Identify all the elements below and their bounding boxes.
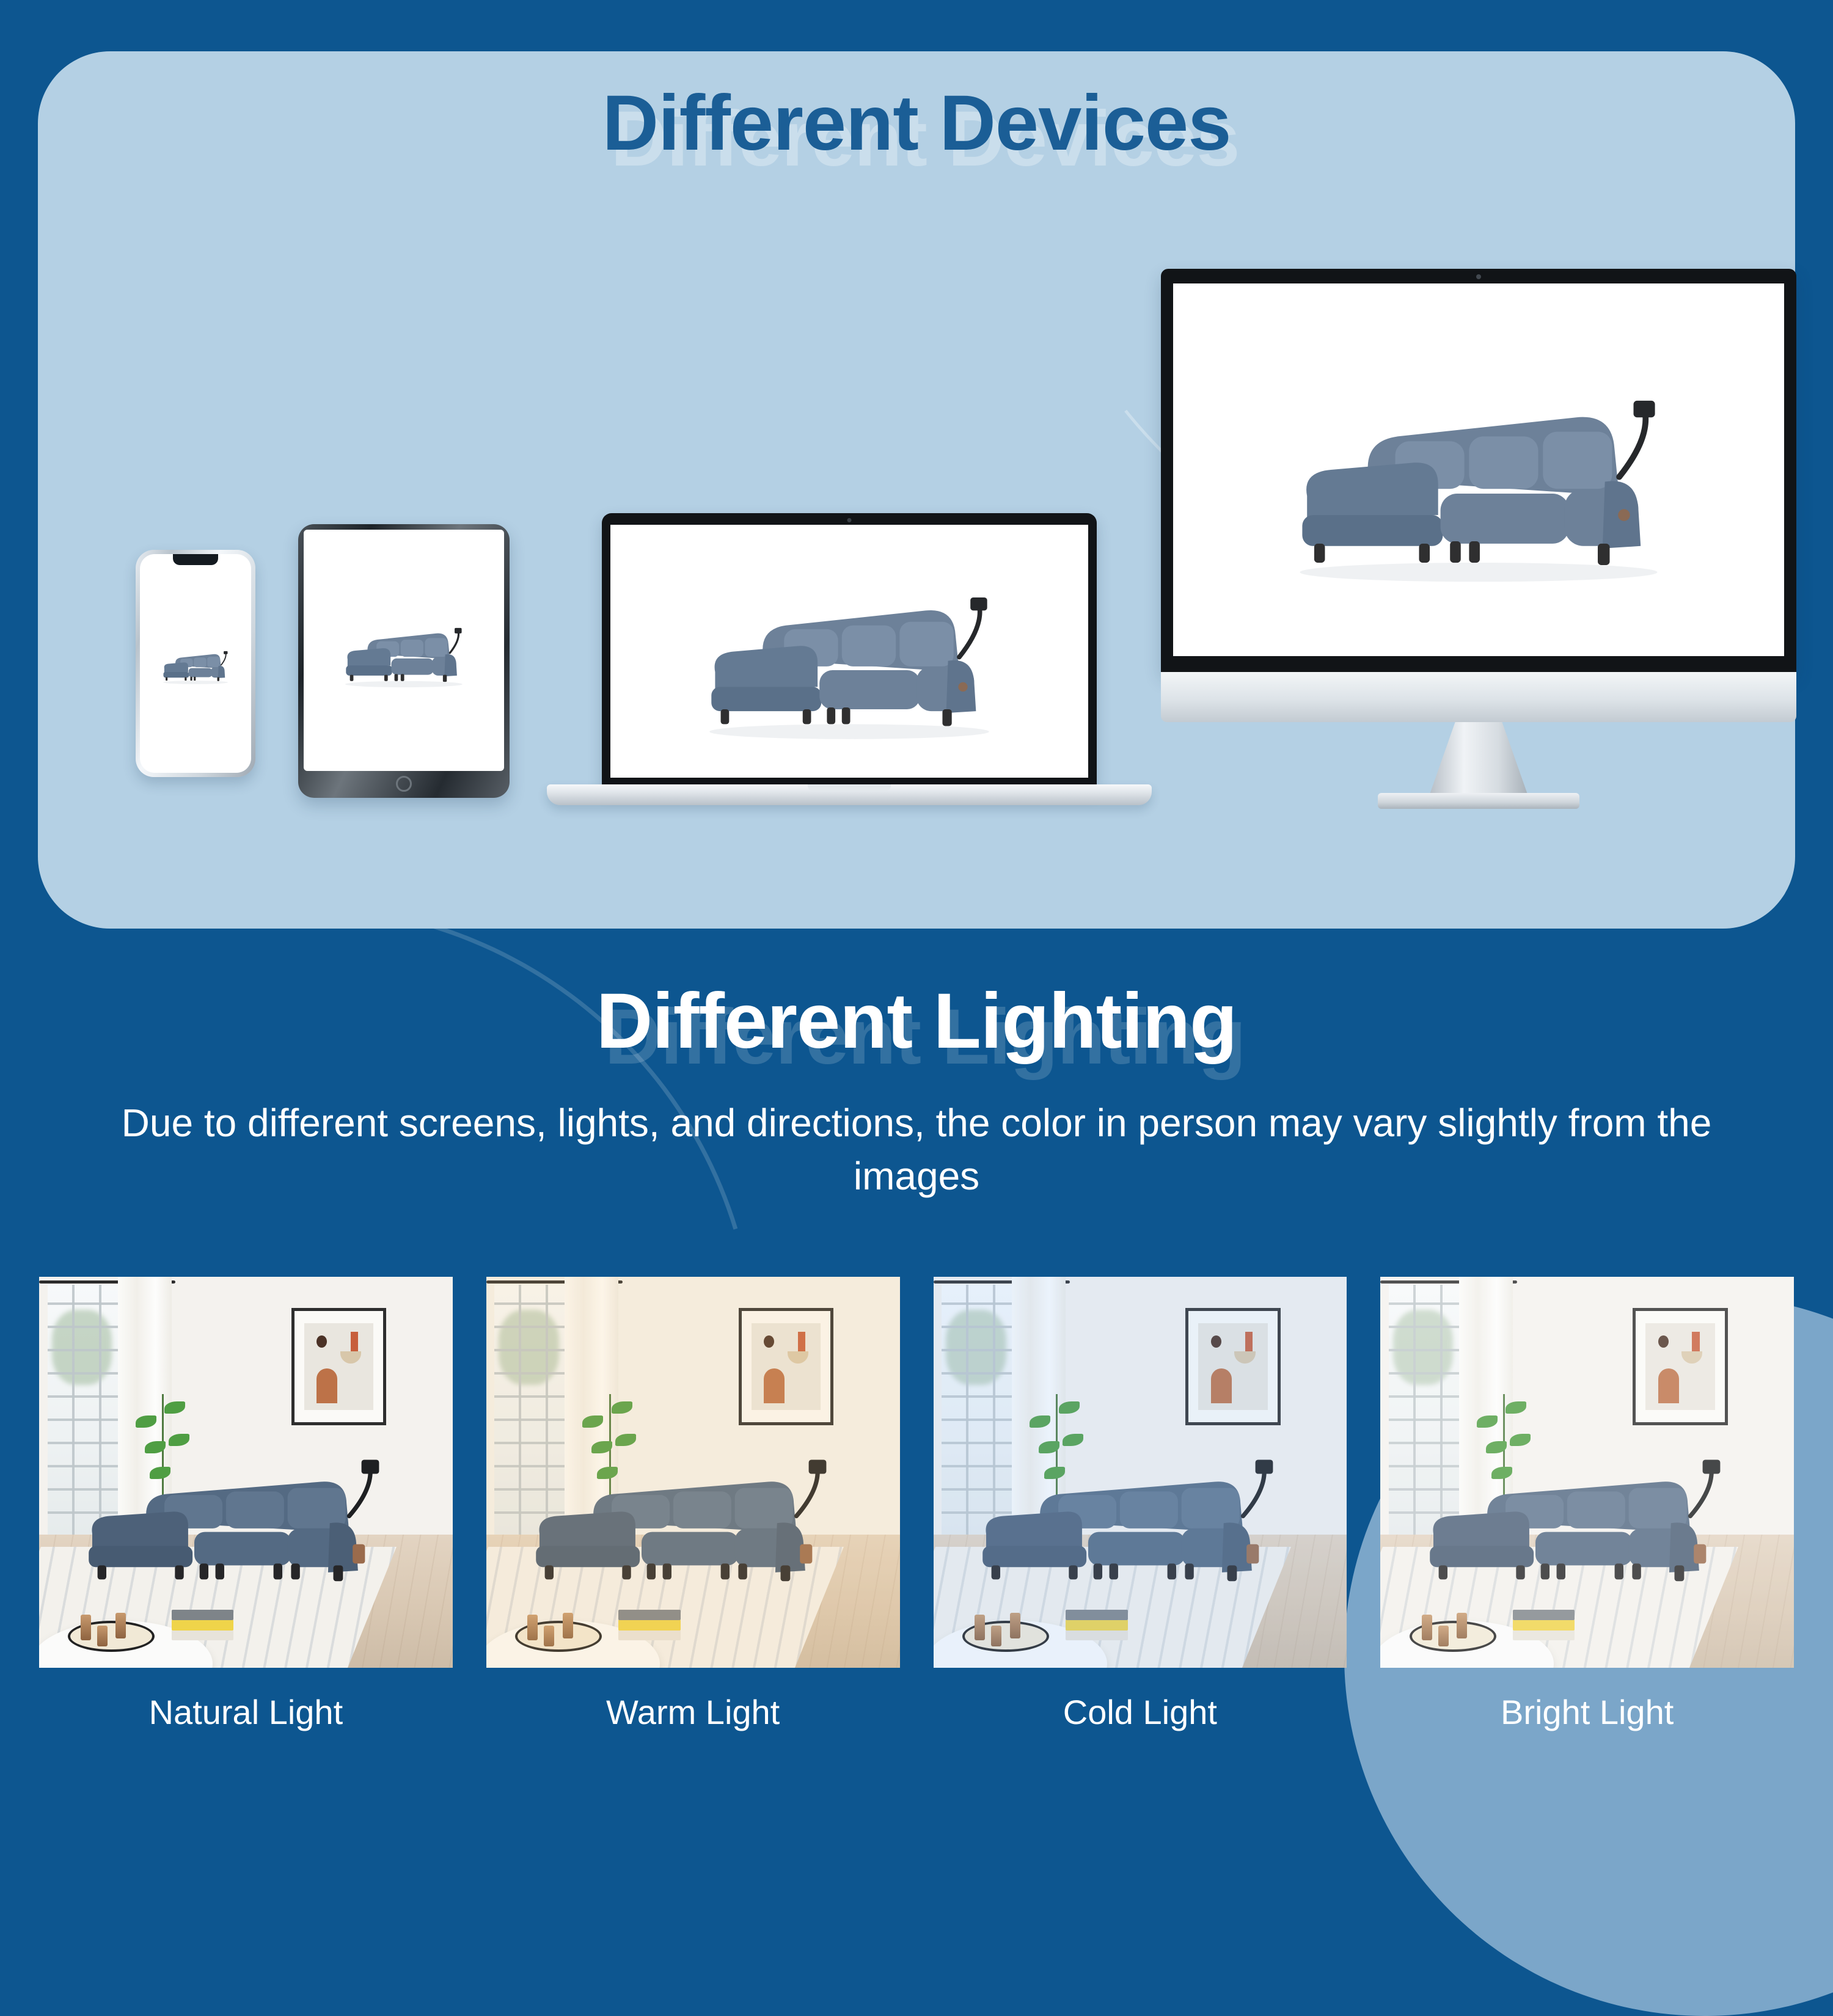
tablet-home-button-icon[interactable]	[396, 776, 412, 792]
tablet-sofa-image	[304, 530, 504, 771]
monitor-screen	[1173, 283, 1784, 656]
laptop-mockup	[547, 513, 1152, 831]
stacked-books	[172, 1609, 234, 1640]
lighting-section-title: Different Lighting	[0, 976, 1833, 1066]
lighting-photo-bright[interactable]	[1380, 1277, 1794, 1668]
lighting-label-warm: Warm Light	[486, 1692, 900, 1732]
lighting-label-bright: Bright Light	[1380, 1692, 1794, 1732]
phone-mockup	[136, 550, 255, 777]
device-mockup-row	[0, 263, 1833, 849]
laptop-lid	[602, 513, 1097, 788]
framed-wall-art	[291, 1308, 387, 1425]
monitor-mockup	[1161, 269, 1796, 837]
laptop-screen	[610, 525, 1088, 778]
sofa-in-room	[1401, 1453, 1765, 1593]
laptop-camera-icon	[847, 518, 852, 522]
laptop-trackpad-notch-icon	[808, 784, 891, 791]
monitor-sofa-image	[1173, 283, 1784, 656]
monitor-camera-icon	[1476, 274, 1481, 279]
lighting-photo-grid	[39, 1277, 1794, 1668]
sofa-in-room	[507, 1453, 871, 1593]
tablet-mockup	[298, 524, 510, 798]
tablet-screen	[304, 530, 504, 771]
phone-screen	[140, 554, 251, 773]
laptop-base	[547, 784, 1152, 805]
monitor-bezel	[1161, 269, 1796, 672]
lighting-photo-warm[interactable]	[486, 1277, 900, 1668]
sofa-in-room	[954, 1453, 1318, 1593]
devices-section-title: Different Devices	[0, 78, 1833, 168]
monitor-stand-foot	[1378, 793, 1579, 809]
monitor-stand-neck	[1430, 722, 1527, 794]
lighting-photo-natural[interactable]	[39, 1277, 453, 1668]
lighting-photo-cold[interactable]	[934, 1277, 1347, 1668]
lighting-labels-row: Natural Light Warm Light Cold Light Brig…	[39, 1692, 1794, 1732]
lighting-label-natural: Natural Light	[39, 1692, 453, 1732]
laptop-sofa-image	[610, 525, 1088, 778]
lighting-label-cold: Cold Light	[934, 1692, 1347, 1732]
lighting-section-subtitle: Due to different screens, lights, and di…	[73, 1097, 1760, 1203]
phone-sofa-image	[140, 554, 251, 773]
sofa-in-room	[60, 1453, 424, 1593]
monitor-chin	[1161, 672, 1796, 722]
